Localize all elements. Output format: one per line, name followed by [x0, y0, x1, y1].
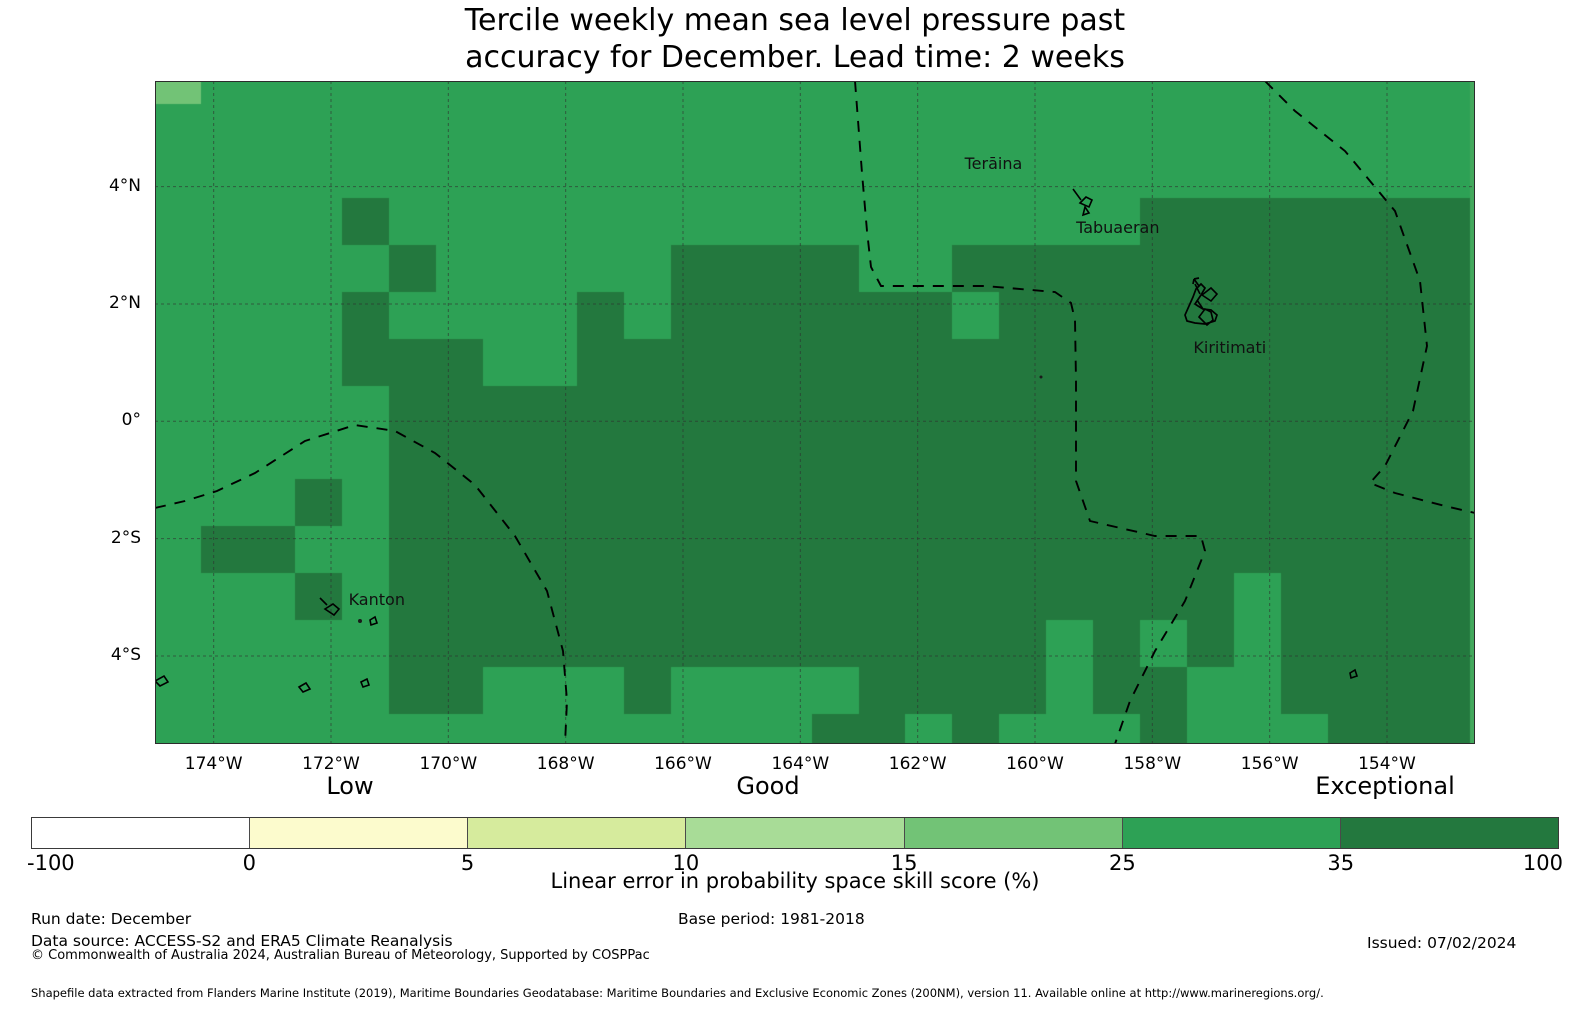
issued-date-text: Issued: 07/02/2024 — [1367, 934, 1516, 952]
x-axis-tick-label: 158°W — [1107, 754, 1197, 774]
colorbar-segment[interactable] — [1122, 818, 1340, 848]
skill-band-label: Exceptional — [0, 772, 1590, 800]
x-axis-tick-label: 166°W — [638, 754, 728, 774]
island-label-kiritimati: Kiritimati — [1193, 338, 1266, 357]
y-axis-tick-label: 4°N — [0, 176, 141, 196]
colorbar-segment[interactable] — [685, 818, 903, 848]
heatmap-canvas — [155, 81, 1475, 744]
x-axis-tick-label: 156°W — [1225, 754, 1315, 774]
colorbar[interactable] — [31, 817, 1559, 849]
colorbar-segment[interactable] — [904, 818, 1122, 848]
base-period-text: Base period: 1981-2018 — [678, 910, 865, 928]
island-label-kanton: Kanton — [349, 590, 405, 609]
island-label-terina: Terāina — [965, 154, 1023, 173]
y-axis-tick-label: 2°N — [0, 293, 141, 313]
copyright-text: © Commonwealth of Australia 2024, Austra… — [31, 948, 650, 963]
page-title: Tercile weekly mean sea level pressure p… — [0, 2, 1590, 76]
skill-score-heatmap — [155, 81, 1475, 744]
colorbar-axis-label: Linear error in probability space skill … — [0, 869, 1590, 893]
x-axis-tick-label: 168°W — [521, 754, 611, 774]
y-axis-tick-label: 0° — [0, 410, 141, 430]
x-axis-tick-label: 160°W — [990, 754, 1080, 774]
x-axis-tick-label: 172°W — [286, 754, 376, 774]
island-label-tabuaeran: Tabuaeran — [1076, 218, 1159, 237]
y-axis-tick-label: 4°S — [0, 645, 141, 665]
colorbar-segment[interactable] — [249, 818, 467, 848]
x-axis-tick-label: 154°W — [1342, 754, 1432, 774]
run-date-text: Run date: December — [31, 910, 191, 928]
colorbar-segment[interactable] — [1340, 818, 1558, 848]
colorbar-segment[interactable] — [32, 818, 249, 848]
y-axis-tick-label: 2°S — [0, 528, 141, 548]
x-axis-tick-label: 170°W — [403, 754, 493, 774]
x-axis-tick-label: 174°W — [169, 754, 259, 774]
shapefile-attribution-text: Shapefile data extracted from Flanders M… — [31, 986, 1324, 1000]
colorbar-segment[interactable] — [467, 818, 685, 848]
x-axis-tick-label: 164°W — [755, 754, 845, 774]
map-plot-area[interactable] — [155, 81, 1475, 744]
x-axis-tick-label: 162°W — [873, 754, 963, 774]
figure-root: Tercile weekly mean sea level pressure p… — [0, 0, 1590, 1020]
